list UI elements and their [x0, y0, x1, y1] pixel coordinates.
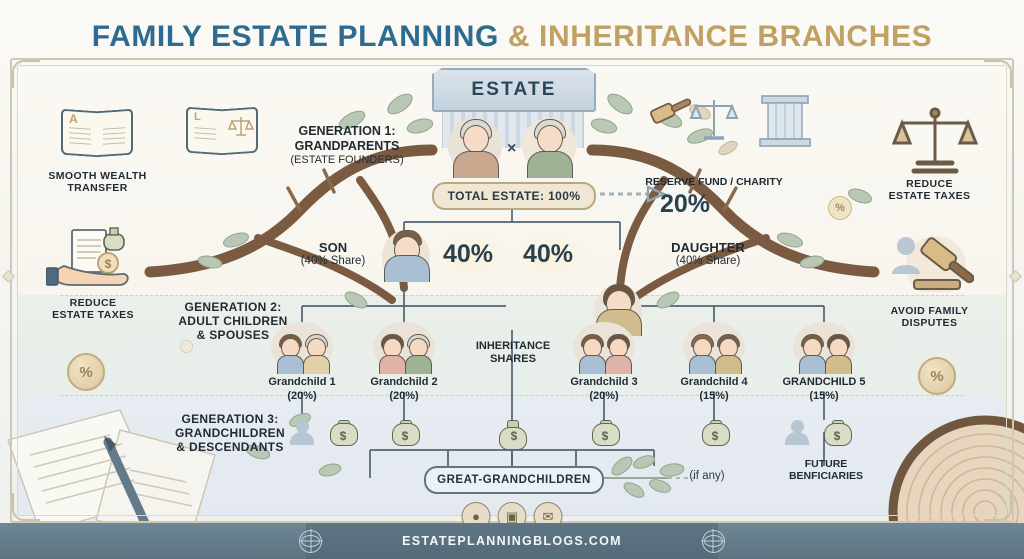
- grandchild-3-name: Grandchild 3: [570, 376, 637, 388]
- grandchild-2-name: Grandchild 2: [370, 376, 437, 388]
- grandchild-2-share: (20%): [389, 390, 418, 402]
- future-beneficiaries-line1: FUTURE: [770, 458, 882, 470]
- son-avatar: [380, 228, 432, 282]
- footer-url[interactable]: ESTATEPLANNINGBLOGS.COM: [402, 534, 622, 548]
- grandchild-4-avatars: [683, 322, 745, 374]
- grandchild-5-avatars: [793, 322, 855, 374]
- percent-coin-right: %: [918, 357, 956, 395]
- money-bag-icon: $: [702, 420, 728, 446]
- scales-of-justice-icon: [892, 105, 978, 177]
- grandchild-5-name: GRANDCHILD 5: [782, 376, 865, 388]
- if-any-label: (if any): [672, 470, 742, 484]
- grandchild-5-share: (15%): [809, 390, 838, 402]
- descendant-person-icon: [289, 420, 315, 447]
- grandchild-node: Grandchild 4 (15%): [666, 322, 762, 404]
- future-beneficiaries-line2: BENFICIARIES: [770, 470, 882, 482]
- percent-coin-left: %: [67, 353, 105, 391]
- money-bag-icon: $: [592, 420, 618, 446]
- page-title: FAMILY ESTATE PLANNING & INHERITANCE BRA…: [0, 20, 1024, 54]
- frame-corner-bottom-right: [984, 493, 1012, 521]
- inheritance-shares-label: INHERITANCE SHARES: [458, 340, 568, 366]
- grandchild-2-avatars: [373, 322, 435, 374]
- globe-icon: [299, 530, 322, 553]
- frame-corner-top-right: [984, 60, 1012, 88]
- marriage-x-icon: ×: [507, 140, 516, 158]
- grandchild-1-avatars: [271, 322, 333, 374]
- inheritance-shares-line1: INHERITANCE: [458, 340, 568, 353]
- open-book-icon: A: [60, 106, 134, 154]
- left-rail-item-0-line2: TRANSFER: [20, 182, 175, 194]
- grandchild-node: Grandchild 2 (20%): [356, 322, 452, 404]
- son-label: SON (40% Share): [288, 240, 378, 269]
- gavel-icon: [888, 230, 974, 292]
- svg-text:$: $: [105, 257, 112, 271]
- grandchild-node: Grandchild 1 (20%): [254, 322, 350, 404]
- right-rail-item-1-label: AVOID FAMILY DISPUTES: [862, 305, 997, 330]
- daughter-share: (40% Share): [648, 255, 768, 269]
- footer-bar: ESTATEPLANNINGBLOGS.COM: [0, 523, 1024, 559]
- son-pct: 40%: [443, 240, 493, 269]
- estate-banner: ESTATE: [432, 68, 596, 112]
- generation-1-label: GENERATION 1: GRANDPARENTS (ESTATE FOUND…: [272, 124, 422, 166]
- globe-icon: [702, 530, 725, 553]
- right-rail-item-1-line2: DISPUTES: [862, 317, 997, 329]
- right-rail-item-1-line1: AVOID FAMILY: [862, 305, 997, 317]
- future-beneficiaries-label: FUTURE BENFICIARIES: [770, 458, 882, 483]
- law-book-icon: L: [185, 104, 259, 152]
- daughter-name: DAUGHTER: [648, 240, 768, 255]
- hand-money-document-icon: $: [46, 226, 138, 288]
- frame-corner-top-left: [12, 60, 40, 88]
- money-bag-icon: $: [330, 420, 356, 446]
- frame-corner-bottom-left: [12, 493, 40, 521]
- daughter-pct: 40%: [523, 240, 573, 269]
- grandchild-1-name: Grandchild 1: [268, 376, 335, 388]
- percent-coin-right-small: %: [828, 196, 852, 220]
- money-bag-icon: $: [824, 420, 850, 446]
- son-share: (40% Share): [288, 255, 378, 269]
- grandchild-1-share: (20%): [287, 390, 316, 402]
- reserve-fund-label: RESERVE FUND / CHARITY: [634, 176, 794, 188]
- left-rail-item-0-label: SMOOTH WEALTH TRANSFER: [20, 170, 175, 195]
- inheritance-shares-line2: SHARES: [458, 353, 568, 366]
- right-rail-item-0-line1: REDUCE: [862, 178, 997, 190]
- grandchild-3-avatars: [573, 322, 635, 374]
- grandmother-avatar: [446, 116, 504, 178]
- generation-1-line2: GRANDPARENTS: [272, 139, 422, 154]
- generation-1-line3: (ESTATE FOUNDERS): [272, 154, 422, 167]
- page-title-part-1: FAMILY ESTATE PLANNING: [92, 20, 508, 53]
- money-bag-icon: $: [499, 420, 529, 450]
- grandchild-4-name: Grandchild 4: [680, 376, 747, 388]
- future-person-icon: [784, 420, 810, 447]
- generation-1-line1: GENERATION 1:: [272, 124, 422, 139]
- right-rail-item-0-label: REDUCE ESTATE TAXES: [862, 178, 997, 203]
- grandchild-node: GRANDCHILD 5 (15%): [776, 322, 872, 404]
- money-bag-icon: $: [392, 420, 418, 446]
- total-estate-badge: TOTAL ESTATE: 100%: [432, 182, 596, 210]
- left-rail-item-0-line1: SMOOTH WEALTH: [20, 170, 175, 182]
- reserve-fund-value: 20%: [660, 190, 710, 219]
- infographic-canvas: FAMILY ESTATE PLANNING & INHERITANCE BRA…: [0, 0, 1024, 559]
- grandchild-4-share: (15%): [699, 390, 728, 402]
- generation-2-line1: GENERATION 2:: [138, 300, 328, 314]
- grandchild-node: Grandchild 3 (20%): [556, 322, 652, 404]
- son-name: SON: [288, 240, 378, 255]
- grandchild-3-share: (20%): [589, 390, 618, 402]
- right-rail-item-0-line2: ESTATE TAXES: [862, 190, 997, 202]
- great-grandchildren-pill: GREAT-GRANDCHILDREN: [424, 466, 604, 494]
- daughter-label: DAUGHTER (40% Share): [648, 240, 768, 269]
- grandfather-avatar: [520, 116, 578, 178]
- page-title-part-2: & INHERITANCE BRANCHES: [508, 20, 932, 53]
